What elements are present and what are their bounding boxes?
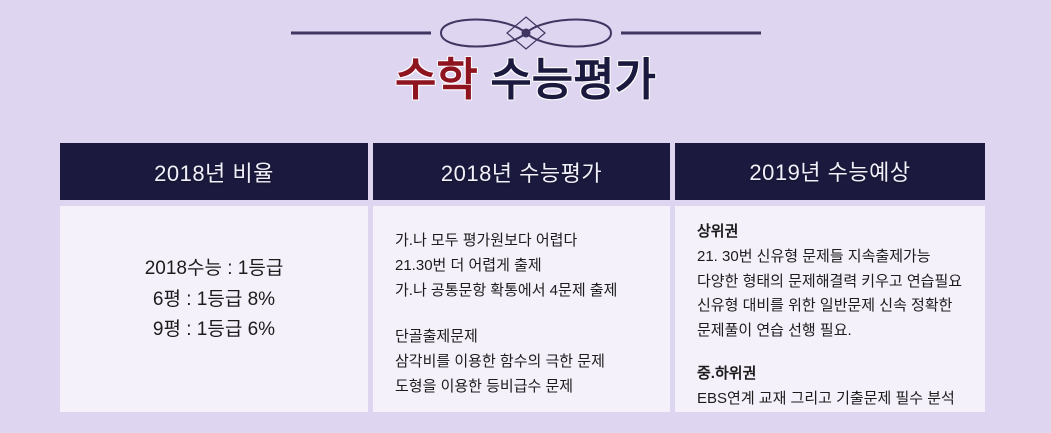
forecast-mid-low-heading: 중.하위권 bbox=[697, 362, 985, 387]
forecast-top-line-2: 다양한 형태의 문제해결력 키우고 연습필요 bbox=[697, 270, 985, 295]
comparison-table: 2018년 비율 2018수능 : 1등급 6평 : 1등급 8% 9평 : 1… bbox=[60, 143, 986, 412]
table-column-2018-review: 2018년 수능평가 가.나 모두 평가원보다 어렵다 21.30번 더 어렵게… bbox=[373, 143, 670, 412]
review-p2-line-1: 단골출제문제 bbox=[395, 324, 670, 349]
column-body-2018-review: 가.나 모두 평가원보다 어렵다 21.30번 더 어렵게 출제 가.나 공통문… bbox=[373, 206, 670, 412]
column-header-2018-review: 2018년 수능평가 bbox=[373, 143, 670, 200]
review-paragraph-1: 가.나 모두 평가원보다 어렵다 21.30번 더 어렵게 출제 가.나 공통문… bbox=[395, 228, 670, 304]
column-header-2019-forecast: 2019년 수능예상 bbox=[675, 143, 985, 200]
ratio-lines: 2018수능 : 1등급 6평 : 1등급 8% 9평 : 1등급 6% bbox=[145, 254, 284, 364]
review-p1-line-3: 가.나 공통문항 확통에서 4문제 출제 bbox=[395, 278, 670, 303]
forecast-top-tier-heading: 상위권 bbox=[697, 220, 985, 245]
review-p2-line-2: 삼각비를 이용한 함수의 극한 문제 bbox=[395, 349, 670, 374]
review-p2-line-3: 도형을 이용한 등비급수 문제 bbox=[395, 374, 670, 399]
ratio-line-3: 9평 : 1등급 6% bbox=[145, 315, 284, 346]
page-title-subject: 수학 bbox=[395, 54, 478, 105]
ratio-line-2: 6평 : 1등급 8% bbox=[145, 285, 284, 316]
forecast-paragraph-top-tier: 상위권 21. 30번 신유형 문제들 지속출제가능 다양한 형태의 문제해결력… bbox=[697, 220, 985, 344]
ratio-line-1: 2018수능 : 1등급 bbox=[145, 254, 284, 285]
table-column-2019-forecast: 2019년 수능예상 상위권 21. 30번 신유형 문제들 지속출제가능 다양… bbox=[675, 143, 985, 412]
forecast-paragraph-mid-low-tier: 중.하위권 EBS연계 교재 그리고 기출문제 필수 분석 bbox=[697, 362, 985, 412]
divider-ornament-icon bbox=[291, 11, 761, 55]
forecast-top-line-1: 21. 30번 신유형 문제들 지속출제가능 bbox=[697, 245, 985, 270]
forecast-top-line-4: 문제풀이 연습 선행 필요. bbox=[697, 319, 985, 344]
review-paragraph-2: 단골출제문제 삼각비를 이용한 함수의 극한 문제 도형을 이용한 등비급수 문… bbox=[395, 324, 670, 400]
column-body-ratio: 2018수능 : 1등급 6평 : 1등급 8% 9평 : 1등급 6% bbox=[60, 206, 368, 412]
column-body-2019-forecast: 상위권 21. 30번 신유형 문제들 지속출제가능 다양한 형태의 문제해결력… bbox=[675, 206, 985, 412]
column-header-ratio: 2018년 비율 bbox=[60, 143, 368, 200]
divider-ornament bbox=[0, 8, 1051, 58]
page-title-main: 수능평가 bbox=[490, 54, 656, 105]
review-p1-line-1: 가.나 모두 평가원보다 어렵다 bbox=[395, 228, 670, 253]
forecast-mid-low-line-1: EBS연계 교재 그리고 기출문제 필수 분석 bbox=[697, 387, 985, 412]
table-column-ratio: 2018년 비율 2018수능 : 1등급 6평 : 1등급 8% 9평 : 1… bbox=[60, 143, 368, 412]
forecast-top-line-3: 신유형 대비를 위한 일반문제 신속 정확한 bbox=[697, 294, 985, 319]
page-title: 수학 수능평가 bbox=[0, 55, 1051, 105]
review-p1-line-2: 21.30번 더 어렵게 출제 bbox=[395, 253, 670, 278]
